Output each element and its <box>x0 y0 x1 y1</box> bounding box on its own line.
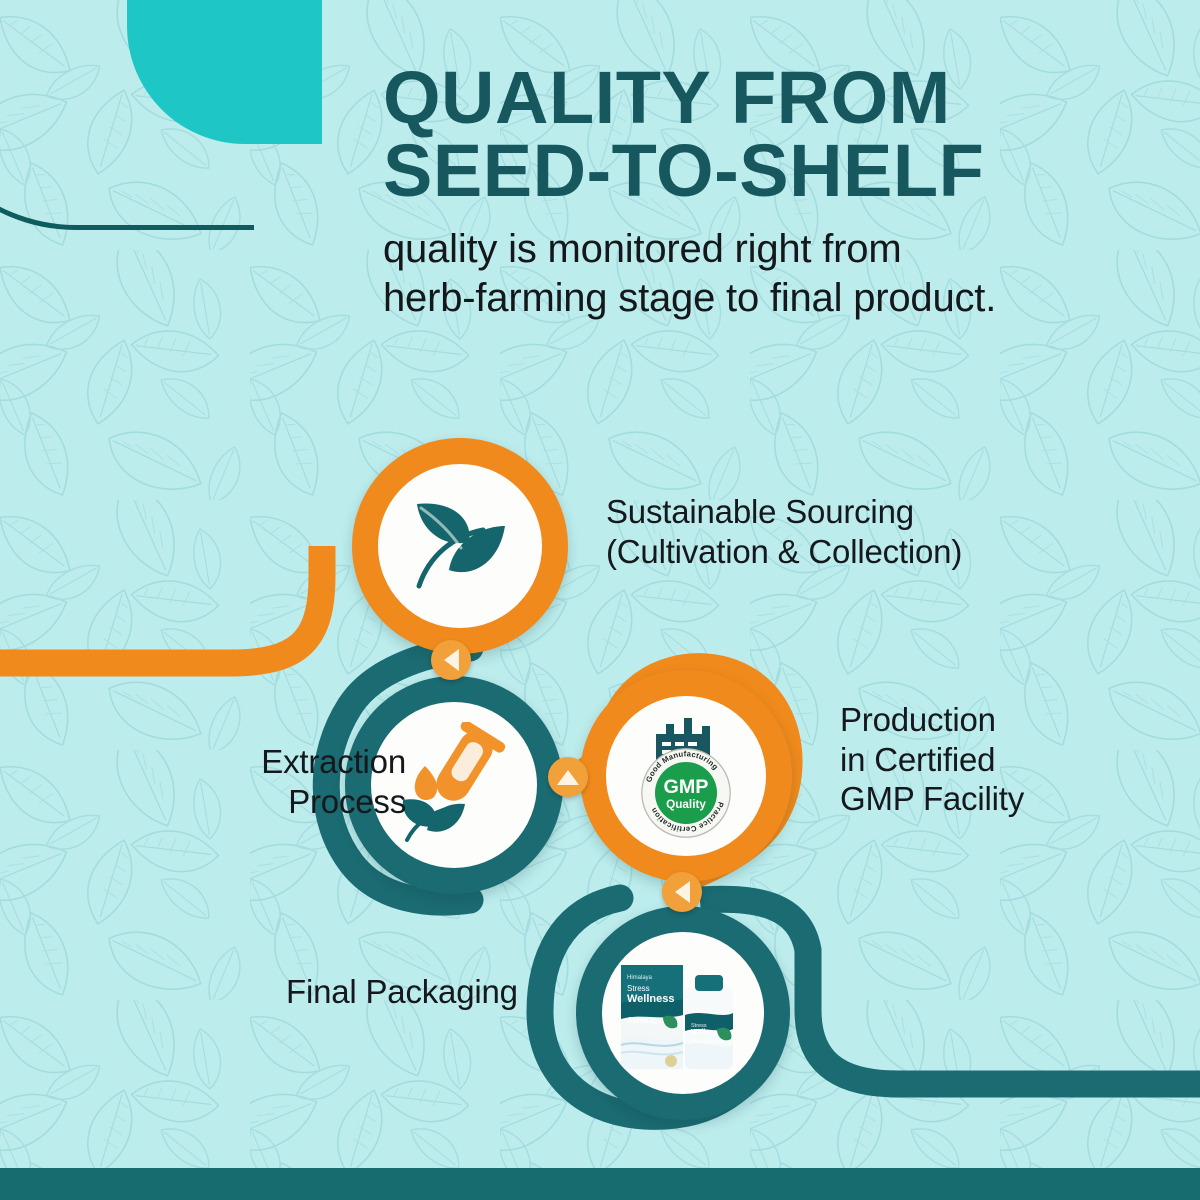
step-circle-production[interactable]: Good Manufacturing Practice Certificatio… <box>580 670 792 882</box>
step-label-extraction-line1: Extraction <box>146 742 406 782</box>
connector-arrow-left-3 <box>662 872 702 912</box>
product-pack: Himalaya Stress Wellness Ashwagandha Str… <box>613 953 753 1073</box>
box-line1: Stress <box>627 984 650 993</box>
step-label-sourcing: Sustainable Sourcing (Cultivation & Coll… <box>606 492 1006 571</box>
leaf-sprout-icon <box>395 486 525 606</box>
page-title-line1: QUALITY FROM <box>383 62 1073 135</box>
connector-arrow-left-1 <box>431 640 471 680</box>
step-label-production-line3: GMP Facility <box>840 779 1140 819</box>
connector-1-path <box>0 546 322 663</box>
box-line2: Wellness <box>627 993 675 1005</box>
step-icon-container-production: Good Manufacturing Practice Certificatio… <box>606 696 766 856</box>
page-subtitle: quality is monitored right from herb-far… <box>383 225 1073 323</box>
step-label-sourcing-line1: Sustainable Sourcing <box>606 492 1006 532</box>
gmp-seal: Good Manufacturing Practice Certificatio… <box>636 746 736 840</box>
step-circle-sourcing[interactable] <box>352 438 568 654</box>
step-icon-container-sourcing <box>378 464 542 628</box>
step-label-packaging: Final Packaging <box>286 972 586 1012</box>
header-block: QUALITY FROM SEED-TO-SHELF quality is mo… <box>383 62 1073 323</box>
gmp-quality-badge-icon: Good Manufacturing Practice Certificatio… <box>626 712 746 840</box>
step-label-packaging-line1: Final Packaging <box>286 972 586 1012</box>
bottle-line2: Wellness <box>691 1029 721 1036</box>
arrow-left-icon <box>444 649 459 671</box>
gmp-main-text: GMP <box>664 776 709 798</box>
bottle-line3: Ashwagandha <box>691 1039 723 1045</box>
step-label-sourcing-line2: (Cultivation & Collection) <box>606 532 1006 572</box>
step-circle-packaging[interactable]: Himalaya Stress Wellness Ashwagandha Str… <box>576 906 790 1120</box>
step-label-extraction-line2: Process <box>146 782 406 822</box>
step-label-production-line1: Production <box>840 700 1140 740</box>
gmp-sub-text: Quality <box>666 798 706 811</box>
infographic-canvas: Sustainable Sourcing (Cultivation & Coll… <box>0 0 1200 1200</box>
bottom-strip <box>0 1168 1200 1200</box>
box-brand: Himalaya <box>627 975 653 981</box>
product-box-bottle-icon: Himalaya Stress Wellness Ashwagandha Str… <box>613 953 753 1073</box>
page-subtitle-line1: quality is monitored right from <box>383 225 1073 274</box>
arrow-left-icon <box>675 881 690 903</box>
connector-arrow-up-2 <box>548 757 588 797</box>
arrow-up-icon <box>557 770 579 785</box>
test-tube-droplet-leaf-icon <box>389 722 519 848</box>
step-label-extraction: Extraction Process <box>146 742 406 821</box>
page-subtitle-line2: herb-farming stage to final product. <box>383 274 1073 323</box>
step-label-production-line2: in Certified <box>840 740 1140 780</box>
page-title-line2: SEED-TO-SHELF <box>383 135 1073 208</box>
step-icon-container-packaging: Himalaya Stress Wellness Ashwagandha Str… <box>602 932 764 1094</box>
step-label-production: Production in Certified GMP Facility <box>840 700 1140 819</box>
